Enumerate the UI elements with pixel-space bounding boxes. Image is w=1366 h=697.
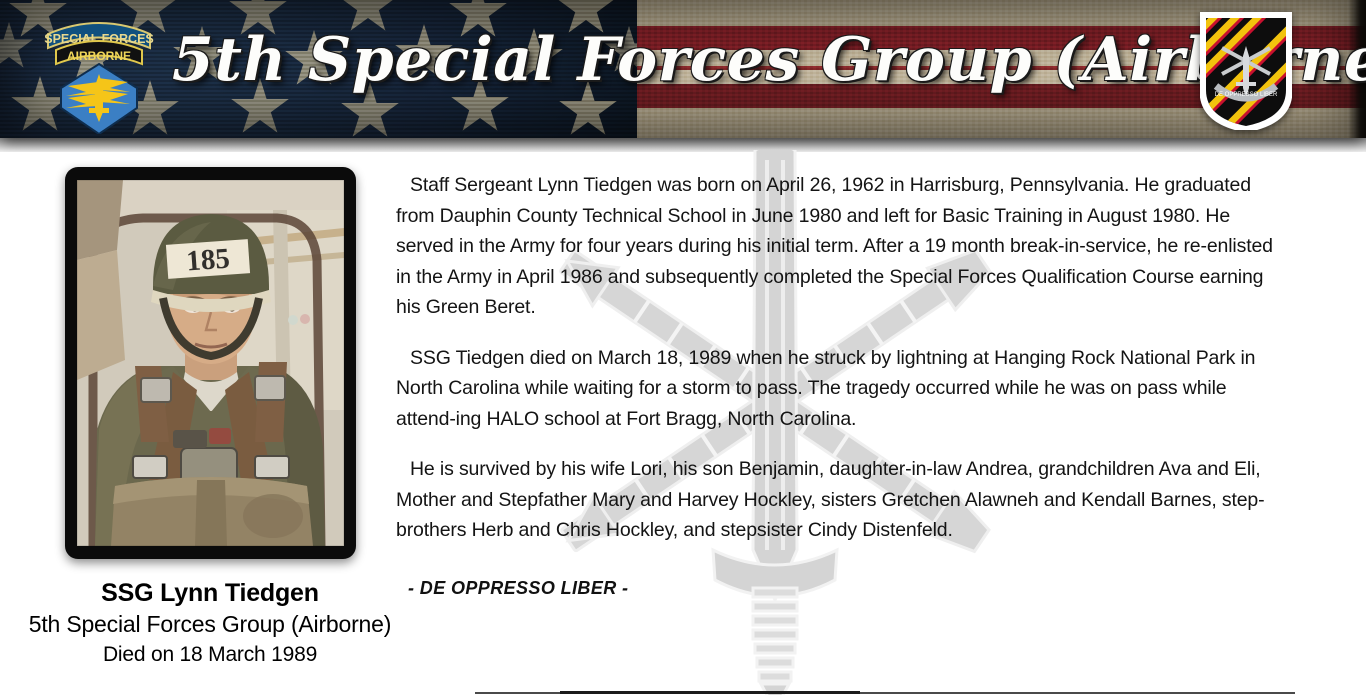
biography-text: Staff Sergeant Lynn Tiedgen was born on … bbox=[396, 170, 1291, 566]
bio-paragraph-2: SSG Tiedgen died on March 18, 1989 when … bbox=[396, 343, 1291, 435]
motto-text: - DE OPPRESSO LIBER - bbox=[408, 578, 628, 599]
banner-flag-background: 5th Special Forces Group (Airborne) SPEC… bbox=[0, 0, 1366, 138]
page-title: 5th Special Forces Group (Airborne) bbox=[172, 30, 1366, 90]
caption-died: Died on 18 March 1989 bbox=[20, 640, 400, 669]
photo-caption: SSG Lynn Tiedgen 5th Special Forces Grou… bbox=[20, 578, 400, 669]
patch-tab-airborne: AIRBORNE bbox=[67, 49, 131, 63]
5th-sfg-beret-flash-icon: DE OPPRESSO LIBER bbox=[1200, 12, 1292, 130]
bottom-divider-center bbox=[560, 691, 860, 694]
banner-drop-shadow bbox=[0, 138, 1366, 152]
caption-rank-name: SSG Lynn Tiedgen bbox=[20, 578, 400, 609]
caption-unit: 5th Special Forces Group (Airborne) bbox=[20, 609, 400, 640]
soldier-photo-frame: 185 bbox=[65, 167, 356, 559]
bio-paragraph-1: Staff Sergeant Lynn Tiedgen was born on … bbox=[396, 170, 1291, 323]
memorial-page: 5th Special Forces Group (Airborne) SPEC… bbox=[0, 0, 1366, 697]
soldier-photo: 185 bbox=[77, 180, 344, 546]
bio-paragraph-3: He is survived by his wife Lori, his son… bbox=[396, 454, 1291, 546]
flash-motto-text: DE OPPRESSO LIBER bbox=[1215, 92, 1278, 98]
special-forces-airborne-patch-icon: SPECIAL FORCES AIRBORNE bbox=[40, 8, 158, 134]
page-banner: 5th Special Forces Group (Airborne) SPEC… bbox=[0, 0, 1366, 152]
